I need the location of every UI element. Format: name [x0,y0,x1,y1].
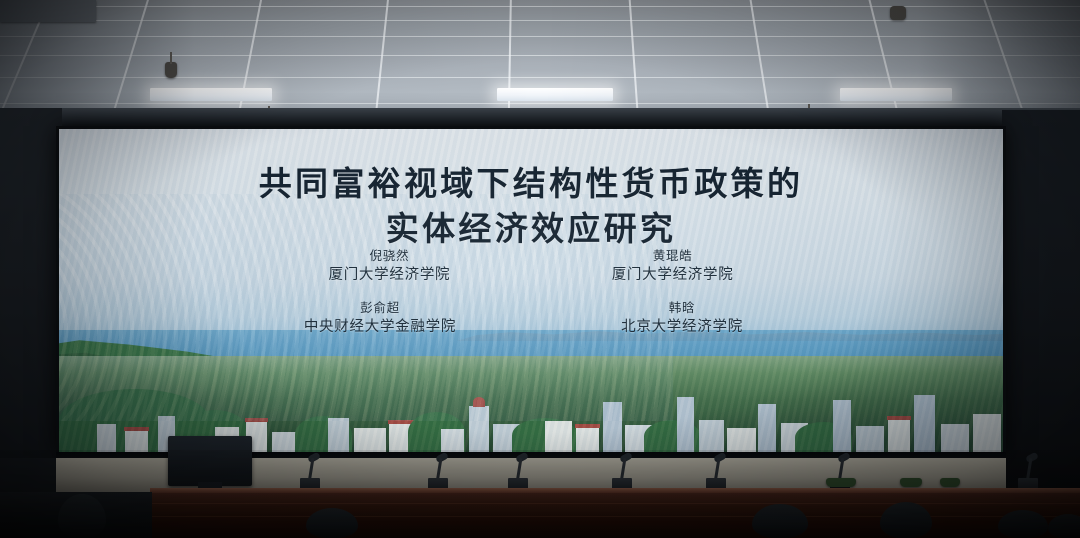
sprinkler-head-icon [165,62,177,78]
back-wall-left-shadow [0,458,56,494]
speaker-desk [150,488,1080,538]
wall-right [1002,110,1080,538]
audience-head [998,510,1048,538]
desk-item [826,478,856,487]
ceiling-light-panel [497,88,613,101]
author-name: 韩晗 [559,299,804,317]
microphone [1018,452,1040,492]
author-block-4: 韩晗 北京大学经济学院 [559,299,804,338]
audience-head [752,504,808,538]
sprinkler-stem [170,52,172,64]
conference-room-photo: 共同富裕视域下结构性货币政策的 实体经济效应研究 倪骁然 厦门大学经济学院 黄琨… [0,0,1080,538]
author-block-3: 彭俞超 中央财经大学金融学院 [238,299,521,338]
author-affiliation: 中央财经大学金融学院 [238,317,521,338]
audience-head [306,508,358,538]
slide-title-line2: 实体经济效应研究 [59,202,1003,250]
audience-head [880,502,932,538]
microphone [300,452,322,492]
ceiling-light-panel [150,88,272,101]
author-affiliation: 厦门大学经济学院 [267,265,512,286]
author-name: 彭俞超 [238,299,521,317]
audience-head [1048,514,1080,538]
led-wall-screen[interactable]: 共同富裕视域下结构性货币政策的 实体经济效应研究 倪骁然 厦门大学经济学院 黄琨… [56,126,1006,456]
author-name: 黄琨皓 [550,247,795,265]
microphone [508,452,530,492]
microphone [428,452,450,492]
desk-top-edge [150,488,1080,493]
ceiling-speaker-icon [890,6,906,20]
presentation-slide: 共同富裕视域下结构性货币政策的 实体经济效应研究 倪骁然 厦门大学经济学院 黄琨… [59,129,1003,453]
author-affiliation: 北京大学经济学院 [559,317,804,338]
presenter-monitor [168,436,252,486]
slide-title-line1: 共同富裕视域下结构性货币政策的 [59,157,1003,205]
desk-item [900,478,922,487]
author-block-2: 黄琨皓 厦门大学经济学院 [550,247,795,286]
author-affiliation: 厦门大学经济学院 [550,265,795,286]
desk-item [940,478,960,487]
author-block-1: 倪骁然 厦门大学经济学院 [267,247,512,286]
ceiling-light-panel [840,88,952,101]
ceiling-tile-dark-panel [0,0,96,22]
audience-head [58,494,106,538]
microphone [706,452,728,492]
microphone [612,452,634,492]
author-name: 倪骁然 [267,247,512,265]
